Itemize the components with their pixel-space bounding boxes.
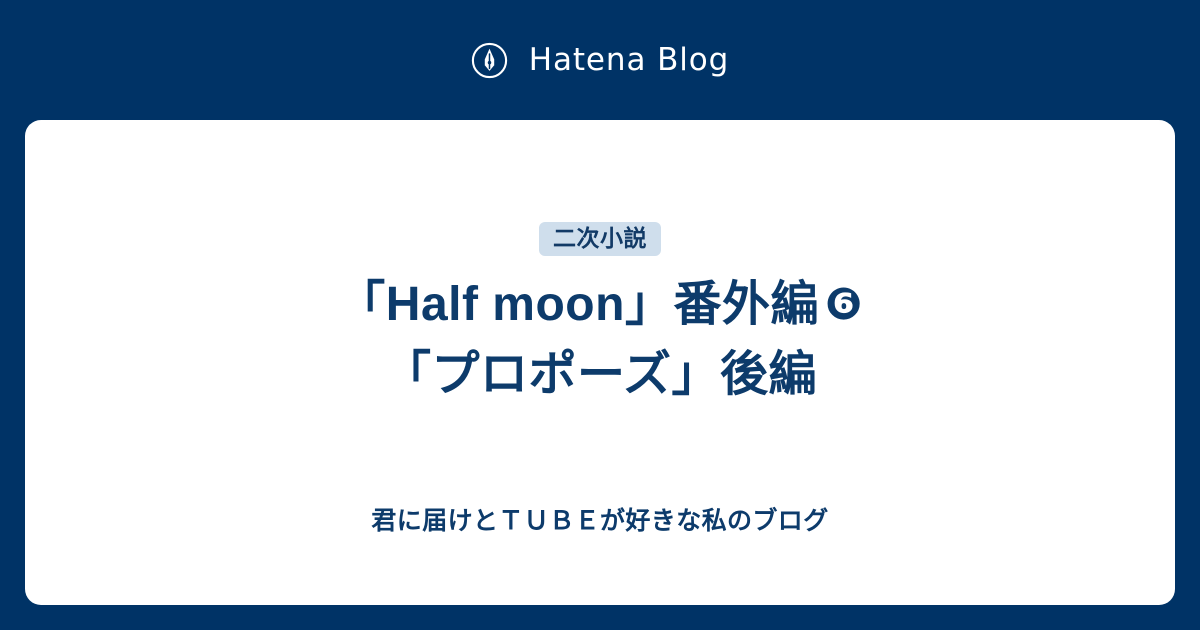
entry-title-line-2: 「プロポーズ」後編 xyxy=(95,340,1105,410)
hatena-blog-og-card: Hatena Blog 二次小説 「Half moon」番外編❻ 「プロポーズ」… xyxy=(0,0,1200,630)
fountain-pen-nib-icon xyxy=(471,42,508,79)
entry-title-text-1: 「Half moon」番外編 xyxy=(337,278,819,331)
hatena-blog-wordmark: Hatena Blog xyxy=(529,45,729,76)
blog-name[interactable]: 君に届けとＴＵＢＥが好きな私のブログ xyxy=(25,506,1175,536)
category-badge[interactable]: 二次小説 xyxy=(539,222,661,256)
entry-title-line-1: 「Half moon」番外編❻ xyxy=(95,270,1105,340)
brand-header: Hatena Blog xyxy=(0,0,1200,120)
entry-card: 二次小説 「Half moon」番外編❻ 「プロポーズ」後編 君に届けとＴＵＢＥ… xyxy=(25,120,1175,605)
entry-title: 「Half moon」番外編❻ 「プロポーズ」後編 xyxy=(95,270,1105,410)
circled-number-six-icon: ❻ xyxy=(825,270,863,340)
